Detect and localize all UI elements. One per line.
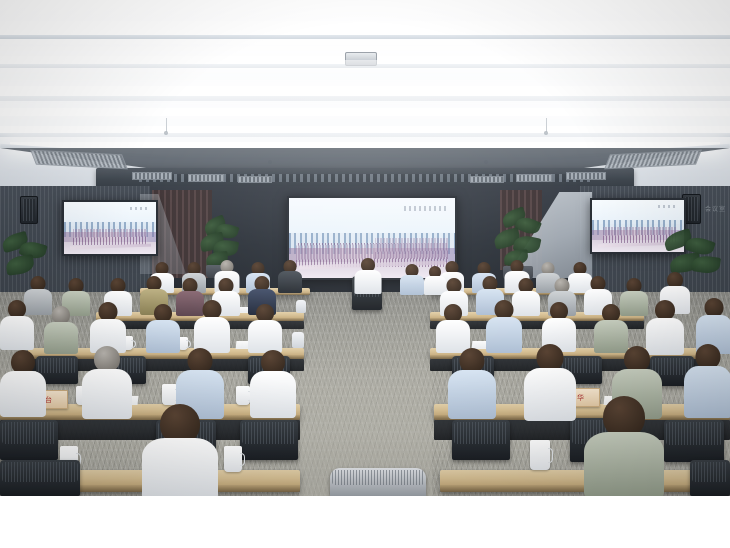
attendee-torso (146, 320, 180, 353)
attendee (90, 302, 126, 352)
attendee-torso (0, 316, 34, 350)
screen-logo (130, 207, 150, 211)
ceiling-light-strip (0, 26, 730, 35)
room-signage: 会议室 (705, 204, 726, 213)
chair (690, 460, 730, 496)
light-hanger (166, 118, 167, 132)
attendee (82, 346, 132, 418)
paper-cup (236, 386, 250, 405)
attendee (250, 350, 296, 418)
chair (330, 468, 426, 496)
page-white-margin (0, 496, 730, 548)
attendee (594, 304, 628, 352)
ceiling-light-strip (0, 126, 730, 133)
attendee (278, 260, 302, 292)
attendee-torso (82, 369, 132, 419)
hvac-vent (238, 176, 272, 183)
ceiling-light-edge (0, 35, 730, 39)
attendee (0, 300, 34, 350)
attendee-torso (0, 371, 46, 417)
paper-cup (530, 440, 550, 470)
attendee (194, 300, 230, 352)
chair (664, 420, 724, 462)
hvac-vent (470, 176, 504, 183)
paper-cup (224, 446, 242, 472)
chair (240, 420, 298, 460)
screen-logo (658, 205, 678, 209)
center-aisle (300, 292, 432, 496)
attendee-torso (250, 371, 296, 418)
attendee-torso (448, 370, 496, 419)
attendee-torso (44, 322, 78, 354)
chair (452, 420, 510, 460)
ceiling-sensor-icon (544, 131, 548, 135)
attendee (400, 264, 424, 294)
attendee (0, 350, 46, 416)
attendee-head (655, 300, 675, 320)
ceiling-mounted-device (345, 52, 377, 66)
paper-cup (162, 384, 177, 405)
hvac-vent (516, 174, 552, 182)
attendee (142, 404, 218, 496)
plant-leaf (5, 254, 35, 276)
attendee-torso (524, 368, 576, 421)
attendee-head (537, 344, 564, 371)
ceiling-light-strip (0, 108, 730, 116)
hvac-vent (132, 172, 172, 180)
lidded-tea-cup (292, 332, 304, 348)
attendee (684, 344, 730, 418)
attendee (248, 304, 282, 352)
attendee (436, 304, 470, 352)
attendee-torso (142, 438, 218, 496)
chair (0, 460, 80, 496)
attendee (44, 306, 78, 352)
attendee (448, 348, 496, 418)
wall-speaker (20, 196, 38, 224)
attendee (486, 300, 522, 352)
attendee (584, 396, 664, 496)
attendee-torso (354, 270, 381, 294)
screenshot-root: 会议室 (0, 0, 730, 548)
ceiling-light-strip (10, 142, 720, 148)
ceiling (0, 0, 730, 196)
light-hanger (546, 118, 547, 132)
hvac-vent (566, 172, 606, 180)
attendee (146, 304, 180, 352)
front-row-presenter (354, 258, 381, 292)
screen-urban-detail (73, 229, 147, 245)
attendee (524, 344, 576, 420)
ceiling-sensor-icon (164, 131, 168, 135)
screen-urban-detail (375, 238, 448, 259)
screen-logo (404, 206, 447, 211)
attendee-torso (584, 432, 664, 496)
screen-content-left (64, 202, 156, 254)
ceiling-light-edge (0, 133, 730, 137)
attendee-torso (278, 271, 302, 293)
attendee-torso (248, 320, 282, 353)
lidded-tea-cup (296, 300, 306, 313)
attendee-torso (400, 275, 424, 295)
left-auxiliary-screen (62, 200, 158, 256)
attendee-torso (684, 366, 730, 418)
hvac-vent (188, 174, 224, 182)
conference-room-photo: 会议室 (0, 0, 730, 496)
ceiling-light-strip (0, 86, 730, 96)
ceiling-light-edge (0, 96, 730, 101)
chair (0, 420, 58, 460)
